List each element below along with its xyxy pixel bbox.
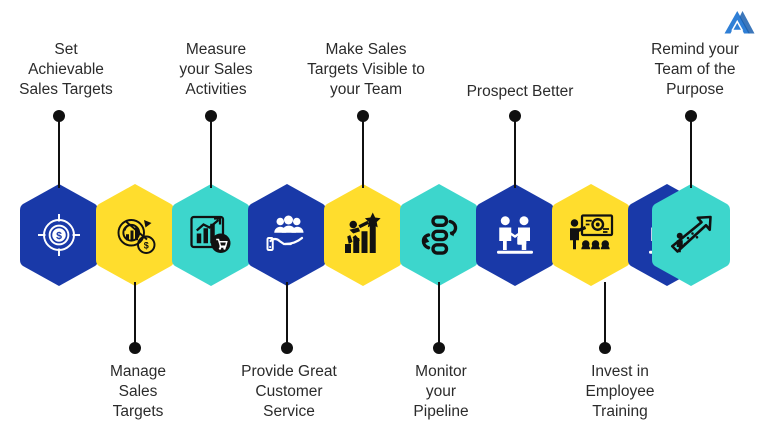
- target-dollar-icon: $: [35, 211, 83, 259]
- connector-line: [514, 116, 516, 188]
- chart-cart-icon: [187, 211, 235, 259]
- connector-step-8: [599, 282, 611, 354]
- connector-line: [362, 116, 364, 188]
- step-label-8: Invest in Employee Training: [570, 362, 670, 422]
- connector-line: [604, 282, 606, 348]
- training-presentation-icon: [567, 211, 615, 259]
- hexagon-step-2[interactable]: $: [94, 182, 176, 288]
- connector-step-4: [281, 282, 293, 354]
- step-label-9: Remind your Team of the Purpose: [630, 40, 760, 100]
- connector-line: [286, 282, 288, 348]
- infographic-canvas: $ $: [0, 0, 768, 432]
- dartboard-growth-coins-icon: $: [111, 211, 159, 259]
- step-label-7: Prospect Better: [455, 82, 585, 102]
- mountain-logo: [720, 8, 756, 38]
- step-label-4: Provide Great Customer Service: [226, 362, 352, 422]
- connector-step-2: [129, 282, 141, 354]
- connector-line: [438, 282, 440, 348]
- svg-text:$: $: [56, 230, 62, 242]
- connector-step-6: [433, 282, 445, 354]
- hexagon-step-3[interactable]: [170, 182, 252, 288]
- step-label-2: Manage Sales Targets: [86, 362, 190, 422]
- connector-line: [210, 116, 212, 188]
- connector-step-5: [357, 110, 369, 188]
- handshake-business-icon: [491, 211, 539, 259]
- connector-step-1: [53, 110, 65, 188]
- hexagon-row: $ $: [0, 182, 768, 288]
- person-rising-arrow-icon: [667, 211, 715, 259]
- step-label-5: Make Sales Targets Visible to your Team: [297, 40, 435, 100]
- connector-line: [690, 116, 692, 188]
- hexagon-step-5[interactable]: [322, 182, 404, 288]
- connector-step-9: [685, 110, 697, 188]
- connector-step-3: [205, 110, 217, 188]
- connector-step-7: [509, 110, 521, 188]
- hexagon-step-1[interactable]: $: [18, 182, 100, 288]
- hexagon-step-8[interactable]: [550, 182, 632, 288]
- connector-line: [58, 116, 60, 188]
- pipeline-flow-icon: [415, 211, 463, 259]
- hand-holding-customers-icon: [263, 211, 311, 259]
- person-climbing-star-chart-icon: [339, 211, 387, 259]
- hexagon-step-7[interactable]: [474, 182, 556, 288]
- step-label-6: Monitor your Pipeline: [398, 362, 484, 422]
- step-label-3: Measure your Sales Activities: [164, 40, 268, 100]
- connector-line: [134, 282, 136, 348]
- hexagon-step-4[interactable]: [246, 182, 328, 288]
- hexagon-step-6[interactable]: [398, 182, 480, 288]
- svg-text:$: $: [144, 241, 149, 251]
- step-label-1: Set Achievable Sales Targets: [12, 40, 120, 100]
- hexagon-step-9[interactable]: [650, 182, 732, 288]
